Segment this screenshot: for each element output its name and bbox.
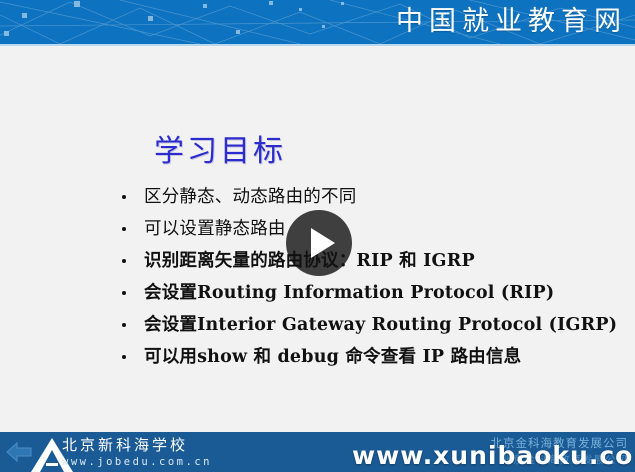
list-item-label: 会设置Interior Gateway Routing Protocol (IG… — [144, 315, 617, 335]
play-icon — [311, 228, 335, 258]
school-name: 北京新科海学校 — [62, 436, 282, 455]
list-item: 可以用show 和 debug 命令查看 IP 路由信息 — [118, 346, 623, 369]
list-item-label: 区分静态、动态路由的不同 — [144, 187, 356, 207]
bullet-dot-icon — [122, 323, 126, 327]
list-item: 会设置Routing Information Protocol (RIP) — [118, 282, 623, 305]
bullet-dot-icon — [122, 195, 126, 199]
list-item-label: 可以设置静态路由 — [144, 219, 286, 239]
list-item: 可以设置静态路由 — [118, 218, 623, 241]
site-watermark: www.xunibaoku.com — [352, 442, 635, 470]
slide-screenshot: 中国就业教育网 学习目标 区分静态、动态路由的不同 可以设置静态路由 识别距离矢… — [0, 0, 635, 472]
bullet-dot-icon — [122, 355, 126, 359]
slide-title: 学习目标 — [154, 126, 286, 170]
objectives-list: 区分静态、动态路由的不同 可以设置静态路由 识别距离矢量的路由协议：RIP 和 … — [118, 186, 623, 378]
list-item-label: 会设置Routing Information Protocol (RIP) — [144, 283, 554, 303]
list-item-label: 可以用show 和 debug 命令查看 IP 路由信息 — [144, 347, 521, 367]
bullet-dot-icon — [122, 227, 126, 231]
banner-title: 中国就业教育网 — [396, 3, 627, 41]
bullet-dot-icon — [122, 291, 126, 295]
school-url: www.jobedu.com.cn — [62, 455, 282, 469]
list-item: 识别距离矢量的路由协议：RIP 和 IGRP — [118, 250, 623, 273]
list-item: 会设置Interior Gateway Routing Protocol (IG… — [118, 314, 623, 337]
site-banner: 中国就业教育网 — [0, 0, 635, 44]
list-item: 区分静态、动态路由的不同 — [118, 186, 623, 209]
play-button[interactable] — [286, 210, 352, 276]
footer-school-block: 北京新科海学校 www.jobedu.com.cn — [62, 436, 282, 469]
bullet-dot-icon — [122, 259, 126, 263]
